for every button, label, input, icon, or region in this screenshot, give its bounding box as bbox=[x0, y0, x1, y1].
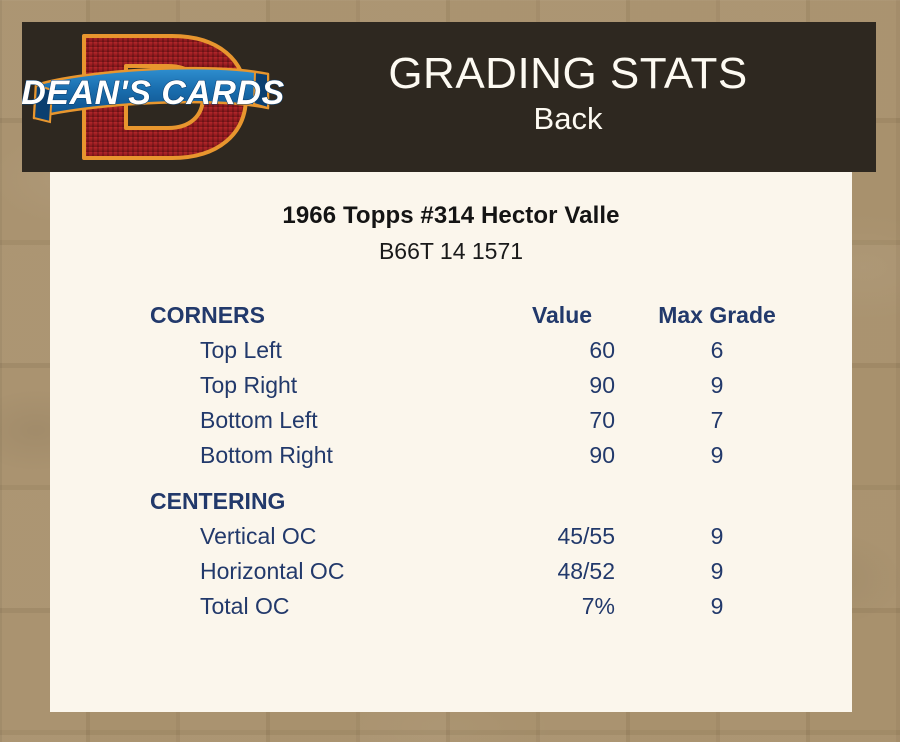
row-label: Vertical OC bbox=[150, 519, 487, 554]
section-title: CORNERS bbox=[150, 297, 487, 333]
table-row: Top Right909 bbox=[150, 368, 797, 403]
table-row: Vertical OC45/559 bbox=[150, 519, 797, 554]
row-max-grade: 7 bbox=[637, 403, 797, 438]
row-label: Total OC bbox=[150, 589, 487, 624]
column-header-value: Value bbox=[487, 297, 637, 333]
row-label: Horizontal OC bbox=[150, 554, 487, 589]
row-value: 45/55 bbox=[487, 519, 637, 554]
row-value: 90 bbox=[487, 368, 637, 403]
card-identifier: B66T 14 1571 bbox=[50, 238, 852, 265]
page-title: GRADING STATS bbox=[284, 51, 852, 97]
row-label: Bottom Left bbox=[150, 403, 487, 438]
deans-cards-logo[interactable]: DEAN'S CARDS bbox=[22, 22, 284, 172]
row-value: 90 bbox=[487, 438, 637, 473]
row-label: Top Left bbox=[150, 333, 487, 368]
row-label: Top Right bbox=[150, 368, 487, 403]
row-label: Bottom Right bbox=[150, 438, 487, 473]
table-row: Top Left606 bbox=[150, 333, 797, 368]
row-value: 60 bbox=[487, 333, 637, 368]
row-max-grade: 9 bbox=[637, 554, 797, 589]
row-max-grade: 9 bbox=[637, 519, 797, 554]
section-title: CENTERING bbox=[150, 483, 487, 519]
section-header-row: CORNERSValueMax Grade bbox=[150, 297, 797, 333]
row-max-grade: 9 bbox=[637, 589, 797, 624]
row-value: 7% bbox=[487, 589, 637, 624]
table-row: Bottom Right909 bbox=[150, 438, 797, 473]
table-row: Total OC7%9 bbox=[150, 589, 797, 624]
table-row: Bottom Left707 bbox=[150, 403, 797, 438]
logo-wordmark: DEAN'S CARDS bbox=[22, 74, 284, 112]
stat-section: CORNERSValueMax GradeTop Left606Top Righ… bbox=[150, 297, 797, 473]
content-panel: 1966 Topps #314 Hector Valle B66T 14 157… bbox=[50, 172, 852, 712]
grading-stats-table: CORNERSValueMax GradeTop Left606Top Righ… bbox=[50, 297, 852, 624]
stat-section: CENTERINGVertical OC45/559Horizontal OC4… bbox=[150, 483, 797, 624]
row-max-grade: 6 bbox=[637, 333, 797, 368]
row-max-grade: 9 bbox=[637, 438, 797, 473]
logo-icon: DEAN'S CARDS bbox=[22, 22, 284, 172]
column-header-max-grade: Max Grade bbox=[637, 297, 797, 333]
section-header-row: CENTERING bbox=[150, 483, 797, 519]
table-row: Horizontal OC48/529 bbox=[150, 554, 797, 589]
header-title-group: GRADING STATS Back bbox=[284, 51, 876, 139]
row-max-grade: 9 bbox=[637, 368, 797, 403]
header-bar: DEAN'S CARDS GRADING STATS Back bbox=[22, 22, 876, 172]
row-value: 48/52 bbox=[487, 554, 637, 589]
card-title: 1966 Topps #314 Hector Valle bbox=[50, 202, 852, 230]
page-subtitle: Back bbox=[284, 99, 852, 139]
row-value: 70 bbox=[487, 403, 637, 438]
